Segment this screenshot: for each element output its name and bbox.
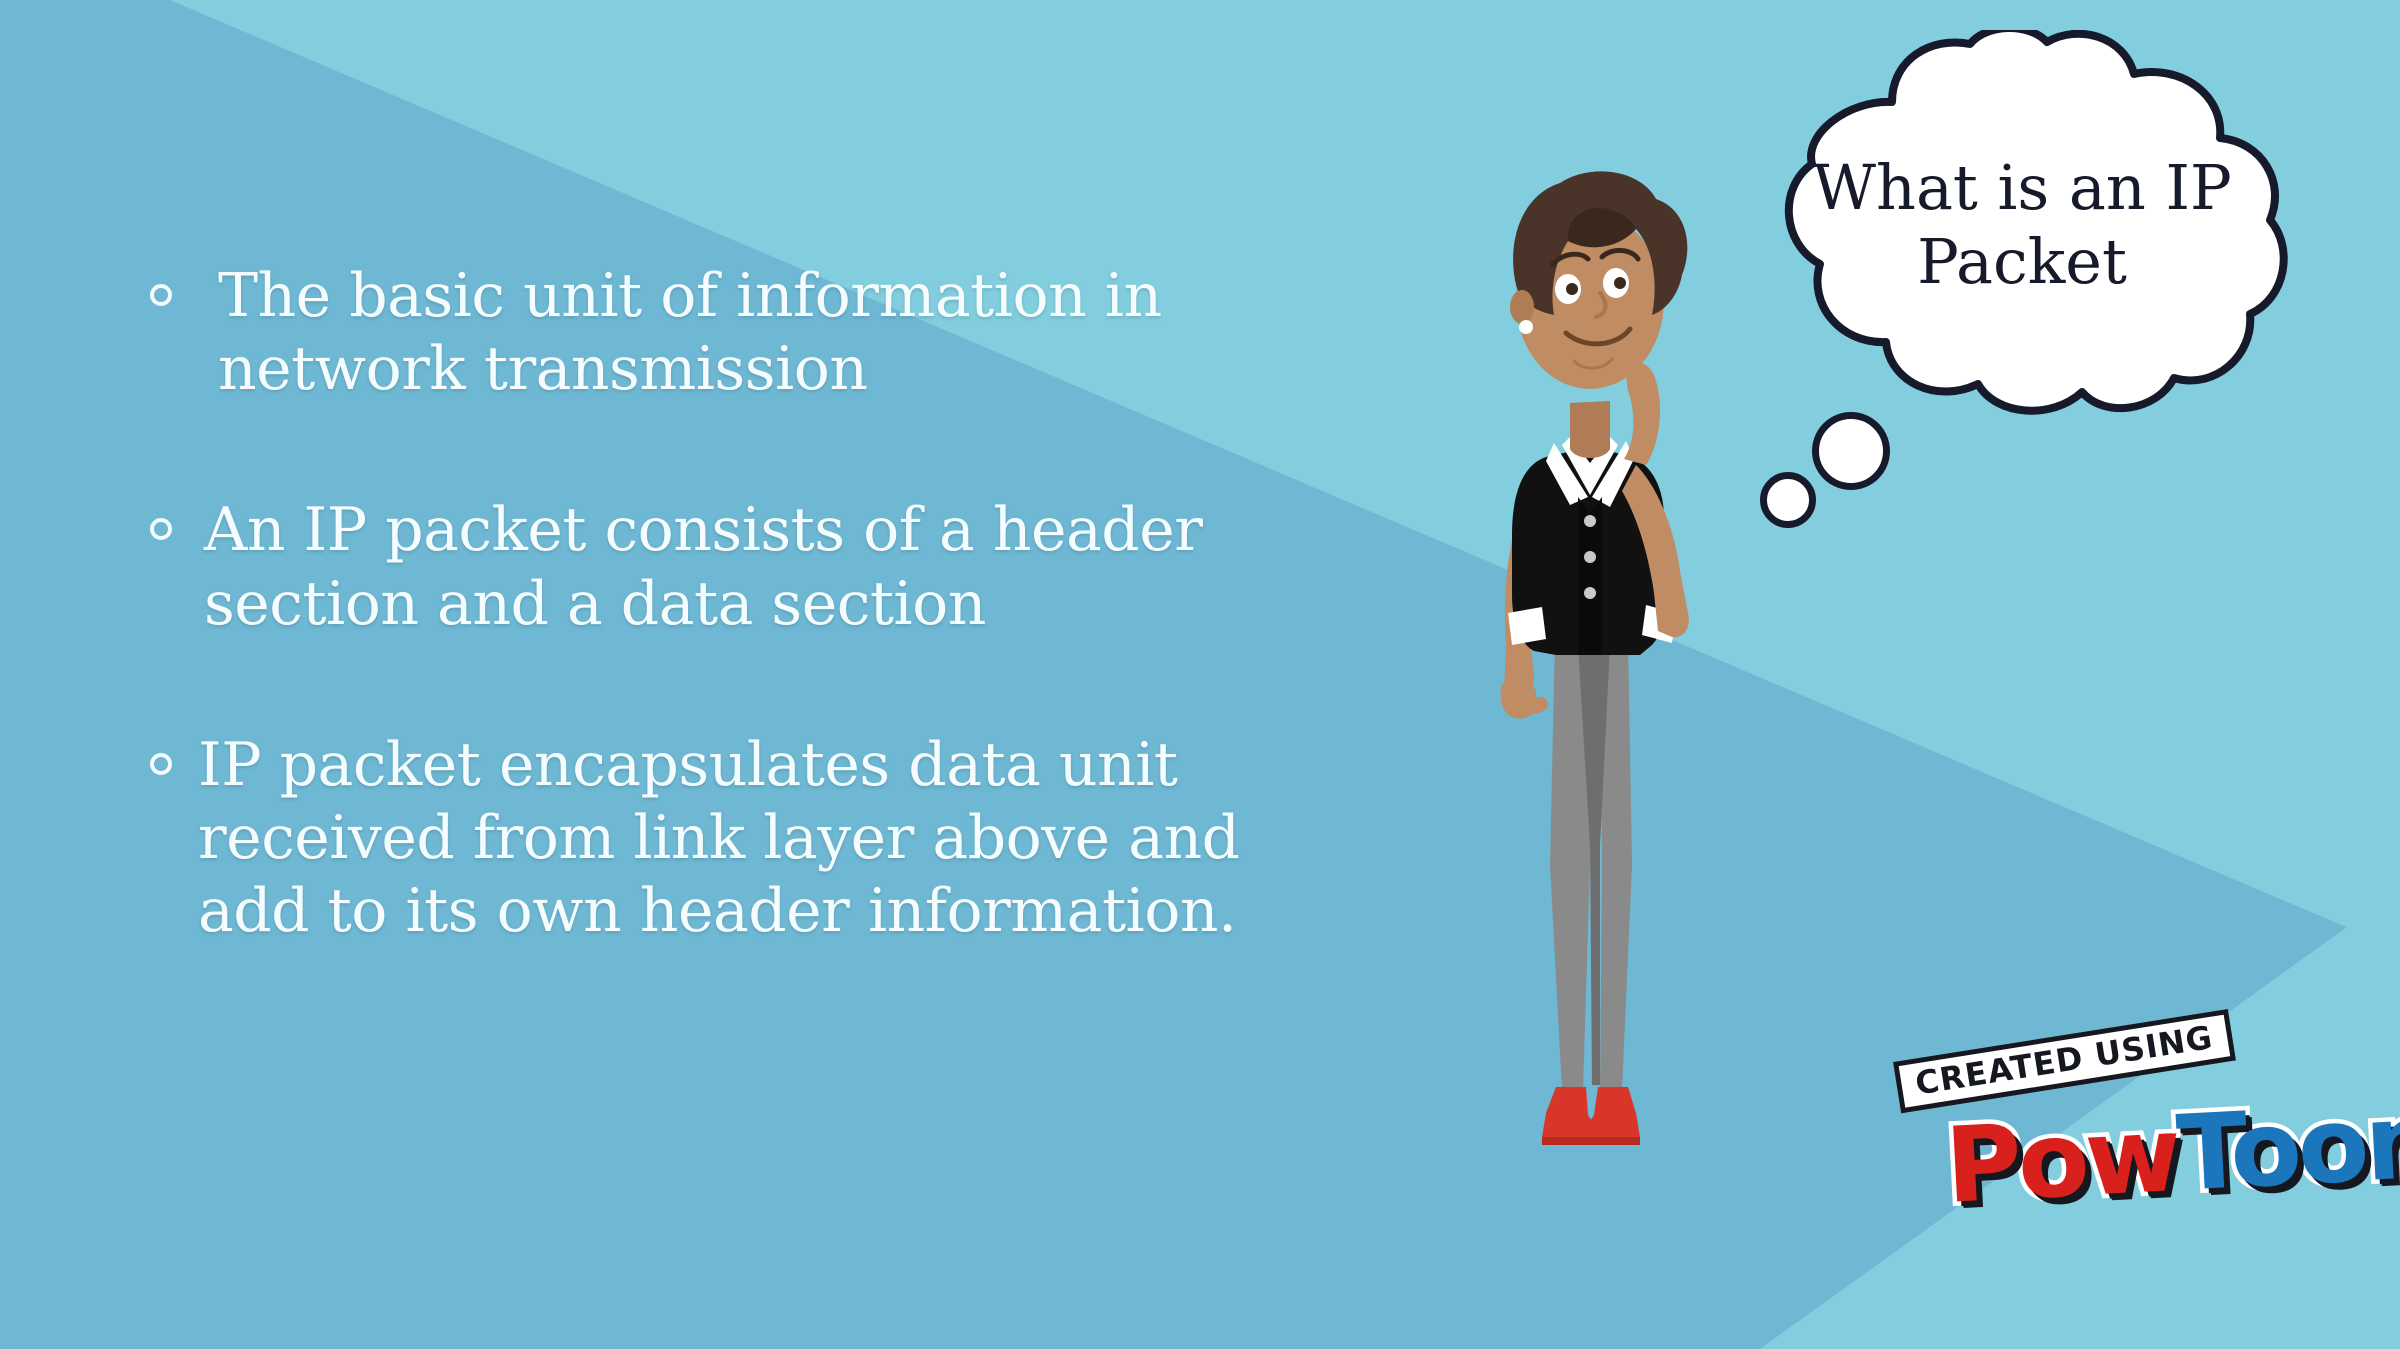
character-head bbox=[1510, 171, 1687, 389]
bullet-line: received from link layer above bbox=[198, 803, 1110, 873]
bullet-line: The basic unit of information bbox=[218, 261, 1086, 331]
bullet-circle-icon bbox=[150, 284, 172, 306]
character-illustration bbox=[1450, 345, 1780, 1165]
bullet-text: The basic unit of information in network… bbox=[218, 260, 1330, 406]
character-pants bbox=[1550, 635, 1632, 1090]
bullet-line: IP packet encapsulates data unit bbox=[198, 730, 1178, 800]
bullet-list: The basic unit of information in network… bbox=[150, 260, 1330, 948]
bullet-text: An IP packet consists of a header sectio… bbox=[204, 494, 1330, 640]
powtoon-watermark[interactable]: CREATED USING PowToon bbox=[1885, 1062, 2285, 1262]
bullet-line: An IP packet consists of a header bbox=[204, 495, 1202, 565]
character-neck bbox=[1570, 401, 1610, 458]
list-item: IP packet encapsulates data unit receive… bbox=[150, 729, 1330, 949]
thought-bubble: What is an IP Packet bbox=[1742, 30, 2302, 420]
bullet-circle-icon bbox=[150, 518, 172, 540]
bullet-line: section and a data section bbox=[204, 569, 986, 639]
thought-bubble-dot-large bbox=[1812, 412, 1890, 490]
list-item: An IP packet consists of a header sectio… bbox=[150, 494, 1330, 640]
bullet-text: IP packet encapsulates data unit receive… bbox=[198, 729, 1330, 949]
list-item: The basic unit of information in network… bbox=[150, 260, 1330, 406]
bullet-line: information. bbox=[868, 876, 1237, 946]
powtoon-wordmark: PowToon bbox=[1943, 1088, 2400, 1217]
presentation-slide: The basic unit of information in network… bbox=[0, 0, 2400, 1349]
powtoon-toon-text: Toon bbox=[2174, 1079, 2400, 1214]
bullet-circle-icon bbox=[150, 753, 172, 775]
powtoon-pow-text: Pow bbox=[1943, 1093, 2181, 1227]
character-shoes bbox=[1542, 1087, 1640, 1145]
